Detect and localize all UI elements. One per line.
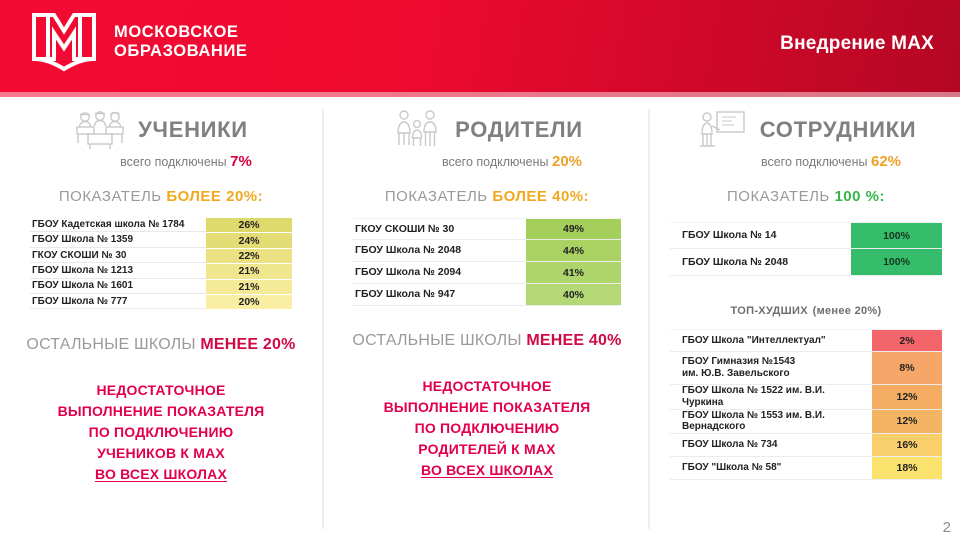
- students-metric-head: ПОКАЗАТЕЛЬ БОЛЕЕ 20%:: [0, 188, 322, 205]
- school-value: 8%: [872, 352, 942, 384]
- warning-line: ПО ПОДКЛЮЧЕНИЮ: [0, 422, 322, 443]
- warning-line-underlined: ВО ВСЕХ ШКОЛАХ: [421, 462, 553, 478]
- warning-line-underlined: ВО ВСЕХ ШКОЛАХ: [95, 466, 227, 482]
- table-row: ГБОУ Школа "Интеллектуал" 2%: [670, 329, 942, 352]
- parents-subtitle: всего подключены 20%: [326, 153, 648, 170]
- students-rest-head: ОСТАЛЬНЫЕ ШКОЛЫ МЕНЕЕ 20%: [0, 336, 322, 354]
- staff-metric-label: ПОКАЗАТЕЛЬ: [727, 188, 830, 205]
- school-name: ГБОУ Школа "Интеллектуал": [670, 330, 872, 351]
- table-row: ГКОУ СКОШИ № 30 49%: [353, 218, 621, 240]
- school-value: 26%: [206, 218, 292, 232]
- students-header: УЧЕНИКИ всего подключены 7%: [0, 97, 322, 170]
- students-at-desks-icon: [74, 108, 126, 152]
- staff-subtitle: всего подключены 62%: [652, 153, 960, 170]
- parents-rest-value: МЕНЕЕ 40%: [526, 332, 621, 349]
- school-name: ГБОУ Школа № 1213: [30, 264, 206, 278]
- school-name: ГБОУ Гимназия №1543 им. Ю.В. Завельского: [670, 352, 872, 384]
- school-value: 44%: [526, 240, 621, 261]
- parents-rest-label: ОСТАЛЬНЫЕ ШКОЛЫ: [352, 332, 521, 349]
- school-name: ГБОУ Школа № 1601: [30, 280, 206, 294]
- school-value: 12%: [872, 385, 942, 409]
- school-value: 21%: [206, 280, 292, 294]
- staff-subtitle-value: 62%: [871, 153, 901, 170]
- table-row: ГБОУ Школа № 14 100%: [670, 222, 942, 249]
- school-name: ГБОУ Школа № 1553 им. В.И. Вернадского: [670, 410, 872, 434]
- school-name: ГБОУ Школа № 2048: [670, 249, 851, 275]
- staff-header: СОТРУДНИКИ всего подключены 62%: [652, 97, 960, 170]
- school-name: ГКОУ СКОШИ № 30: [30, 249, 206, 263]
- school-value: 49%: [526, 219, 621, 239]
- table-row: ГБОУ Школа № 2048 44%: [353, 240, 621, 262]
- school-value: 40%: [526, 284, 621, 305]
- table-row: ГБОУ Школа № 777 20%: [30, 295, 292, 310]
- table-row: ГБОУ Кадетская школа № 1784 26%: [30, 218, 292, 233]
- warning-line: ПО ПОДКЛЮЧЕНИЮ: [326, 418, 648, 439]
- table-row: ГБОУ Школа № 2048 100%: [670, 249, 942, 276]
- parents-metric-label: ПОКАЗАТЕЛЬ: [385, 188, 488, 205]
- open-book-m-logo-icon: [28, 9, 100, 75]
- page-number: 2: [943, 519, 951, 536]
- warning-line: ВЫПОЛНЕНИЕ ПОКАЗАТЕЛЯ: [0, 401, 322, 422]
- parents-metric-head: ПОКАЗАТЕЛЬ БОЛЕЕ 40%:: [326, 188, 648, 205]
- school-name: ГКОУ СКОШИ № 30: [353, 219, 526, 239]
- warning-line: ВЫПОЛНЕНИЕ ПОКАЗАТЕЛЯ: [326, 397, 648, 418]
- students-rest-label: ОСТАЛЬНЫЕ ШКОЛЫ: [26, 336, 195, 353]
- school-name: ГБОУ Школа № 2048: [353, 240, 526, 261]
- school-value: 18%: [872, 457, 942, 479]
- table-row: ГБОУ Школа № 947 40%: [353, 284, 621, 306]
- school-name: ГБОУ Школа № 1359: [30, 233, 206, 247]
- table-row: ГБОУ Школа № 734 16%: [670, 434, 942, 457]
- parents-rest-head: ОСТАЛЬНЫЕ ШКОЛЫ МЕНЕЕ 40%: [326, 332, 648, 350]
- students-subtitle: всего подключены 7%: [0, 153, 322, 170]
- school-value: 100%: [851, 249, 942, 275]
- students-table: ГБОУ Кадетская школа № 1784 26% ГБОУ Шко…: [30, 218, 292, 310]
- slide-root: МОСКОВСКОЕ ОБРАЗОВАНИЕ Внедрение MAX: [0, 0, 960, 539]
- table-row: ГБОУ Гимназия №1543 им. Ю.В. Завельского…: [670, 352, 942, 385]
- brand-logo-line1: МОСКОВСКОЕ: [114, 23, 248, 42]
- page-title: Внедрение MAX: [780, 33, 934, 55]
- students-warning: НЕДОСТАТОЧНОЕ ВЫПОЛНЕНИЕ ПОКАЗАТЕЛЯ ПО П…: [0, 380, 322, 485]
- staff-metric-head: ПОКАЗАТЕЛЬ 100 %:: [652, 188, 960, 205]
- warning-line: НЕДОСТАТОЧНОЕ: [326, 376, 648, 397]
- students-metric-value: БОЛЕЕ 20%:: [166, 188, 263, 205]
- column-divider-1: [322, 109, 324, 529]
- table-row: ГБОУ Школа № 1213 21%: [30, 264, 292, 279]
- school-name: ГБОУ Школа № 777: [30, 295, 206, 309]
- panel-parents: РОДИТЕЛИ всего подключены 20% ПОКАЗАТЕЛЬ…: [326, 97, 648, 539]
- staff-metric-value: 100 %:: [834, 188, 885, 205]
- warning-line: УЧЕНИКОВ К MAX: [0, 443, 322, 464]
- brand-logo-line2: ОБРАЗОВАНИЕ: [114, 42, 248, 61]
- panel-staff: СОТРУДНИКИ всего подключены 62% ПОКАЗАТЕ…: [652, 97, 960, 539]
- warning-line: РОДИТЕЛЕЙ К MAX: [326, 439, 648, 460]
- worst-section-title: ТОП-ХУДШИХ: [731, 305, 808, 317]
- staff-title: СОТРУДНИКИ: [760, 117, 916, 143]
- school-value: 24%: [206, 233, 292, 247]
- teacher-whiteboard-icon: [696, 108, 748, 152]
- students-subtitle-label: всего подключены: [120, 155, 227, 169]
- staff-table: ГБОУ Школа № 14 100% ГБОУ Школа № 2048 1…: [670, 222, 942, 276]
- parents-title: РОДИТЕЛИ: [455, 117, 583, 143]
- parents-subtitle-label: всего подключены: [442, 155, 549, 169]
- school-value: 2%: [872, 330, 942, 351]
- table-row: ГКОУ СКОШИ № 30 22%: [30, 249, 292, 264]
- brand-logo: МОСКОВСКОЕ ОБРАЗОВАНИЕ: [28, 9, 248, 75]
- school-name: ГБОУ Школа № 14: [670, 223, 851, 248]
- school-value: 41%: [526, 262, 621, 283]
- school-name: ГБОУ Школа № 947: [353, 284, 526, 305]
- table-row: ГБОУ Школа № 1359 24%: [30, 233, 292, 248]
- parents-header: РОДИТЕЛИ всего подключены 20%: [326, 97, 648, 170]
- parents-metric-value: БОЛЕЕ 40%:: [492, 188, 589, 205]
- school-value: 22%: [206, 249, 292, 263]
- school-name: ГБОУ Школа № 2094: [353, 262, 526, 283]
- school-value: 16%: [872, 434, 942, 456]
- table-row: ГБОУ Школа № 1601 21%: [30, 280, 292, 295]
- students-rest-value: МЕНЕЕ 20%: [200, 336, 295, 353]
- column-divider-2: [648, 109, 650, 529]
- school-name: ГБОУ Кадетская школа № 1784: [30, 218, 206, 232]
- parents-subtitle-value: 20%: [552, 153, 582, 170]
- parents-table: ГКОУ СКОШИ № 30 49% ГБОУ Школа № 2048 44…: [353, 218, 621, 306]
- family-parents-child-icon: [391, 108, 443, 152]
- header-bar: МОСКОВСКОЕ ОБРАЗОВАНИЕ Внедрение MAX: [0, 0, 960, 92]
- table-row: ГБОУ Школа № 1522 им. В.И. Чуркина 12%: [670, 385, 942, 410]
- school-name: ГБОУ Школа № 734: [670, 434, 872, 456]
- students-metric-label: ПОКАЗАТЕЛЬ: [59, 188, 162, 205]
- parents-warning: НЕДОСТАТОЧНОЕ ВЫПОЛНЕНИЕ ПОКАЗАТЕЛЯ ПО П…: [326, 376, 648, 481]
- brand-logo-text: МОСКОВСКОЕ ОБРАЗОВАНИЕ: [114, 23, 248, 62]
- school-name: ГБОУ "Школа № 58": [670, 457, 872, 479]
- table-row: ГБОУ "Школа № 58" 18%: [670, 457, 942, 480]
- students-subtitle-value: 7%: [230, 153, 252, 170]
- school-value: 21%: [206, 264, 292, 278]
- table-row: ГБОУ Школа № 2094 41%: [353, 262, 621, 284]
- warning-line: НЕДОСТАТОЧНОЕ: [0, 380, 322, 401]
- worst-table: ГБОУ Школа "Интеллектуал" 2% ГБОУ Гимназ…: [670, 329, 942, 480]
- school-name: ГБОУ Школа № 1522 им. В.И. Чуркина: [670, 385, 872, 409]
- school-value: 20%: [206, 295, 292, 309]
- school-value: 12%: [872, 410, 942, 434]
- students-title: УЧЕНИКИ: [138, 117, 248, 143]
- content-columns: УЧЕНИКИ всего подключены 7% ПОКАЗАТЕЛЬ Б…: [0, 97, 960, 539]
- table-row: ГБОУ Школа № 1553 им. В.И. Вернадского 1…: [670, 410, 942, 435]
- staff-subtitle-label: всего подключены: [761, 155, 868, 169]
- worst-section-head: ТОП-ХУДШИХ (менее 20%): [652, 301, 960, 319]
- school-value: 100%: [851, 223, 942, 248]
- panel-students: УЧЕНИКИ всего подключены 7% ПОКАЗАТЕЛЬ Б…: [0, 97, 322, 539]
- worst-section-note: (менее 20%): [813, 305, 882, 317]
